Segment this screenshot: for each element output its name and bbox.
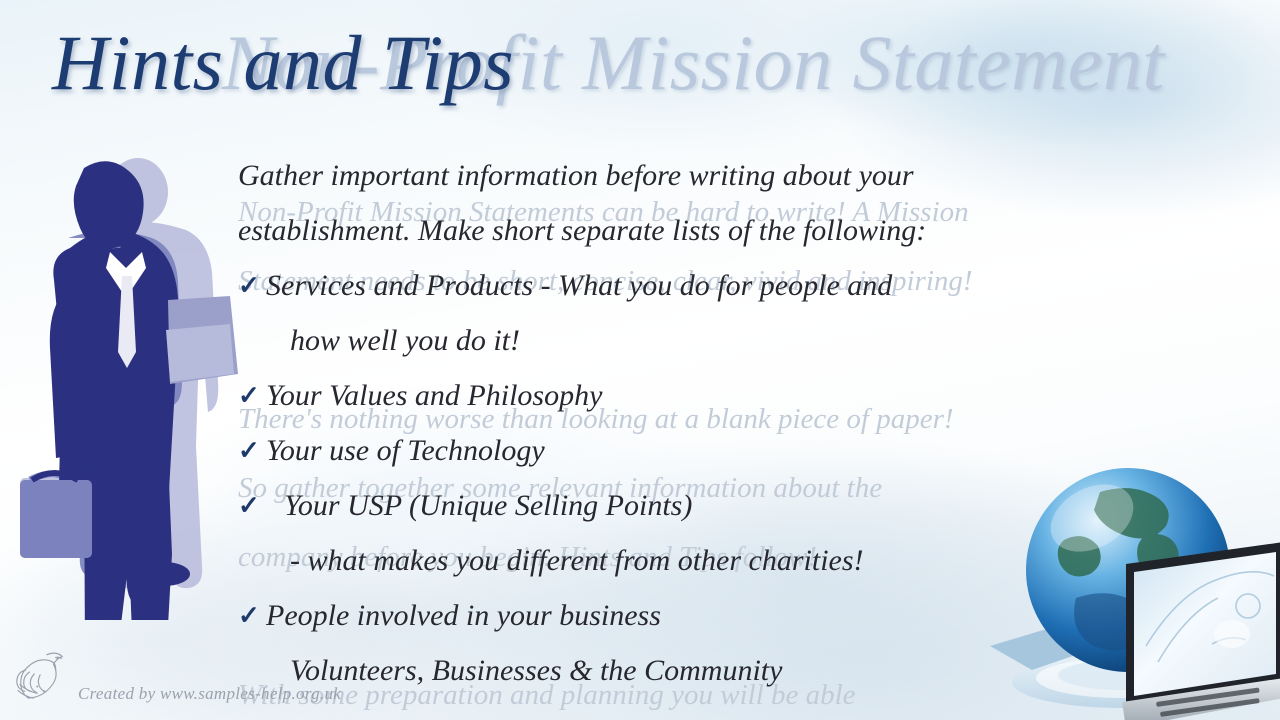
page-title: Hints and Tips: [52, 18, 514, 108]
list-item-continuation: how well you do it!: [238, 313, 1078, 368]
list-item: ✓ Your USP (Unique Selling Points): [238, 478, 1078, 533]
list-item: ✓ People involved in your business: [238, 588, 1078, 643]
footer-credit-text: Created by www.samples-help.org.uk: [78, 684, 341, 706]
list-item-continuation: Volunteers, Businesses & the Community: [238, 643, 1078, 698]
intro-line-2: establishment. Make short separate lists…: [238, 203, 1078, 258]
footer-credit: Created by www.samples-help.org.uk: [14, 645, 341, 706]
list-item-label: People involved in your business: [266, 599, 661, 632]
list-item: ✓ Your use of Technology: [238, 423, 1078, 478]
presentation-slide: Non-Profit Mission Statement Hints and T…: [0, 0, 1280, 720]
list-item-label: Your use of Technology: [266, 434, 545, 467]
slide-title-area: Non-Profit Mission Statement Hints and T…: [0, 0, 1280, 130]
slide-body: Gather important information before writ…: [238, 148, 1078, 698]
list-item-label: Your Values and Philosophy: [266, 379, 602, 412]
list-item-label: Your USP (Unique Selling Points): [284, 489, 692, 522]
list-item: ✓ Your Values and Philosophy: [238, 368, 1078, 423]
globe-laptop-graphic: [980, 430, 1280, 720]
businessman-silhouette-icon: [18, 150, 248, 620]
list-item-continuation: - what makes you different from other ch…: [238, 533, 1078, 588]
list-item: ✓ Services and Products - What you do fo…: [238, 258, 1078, 313]
dove-icon: [14, 645, 72, 706]
intro-line-1: Gather important information before writ…: [238, 148, 1078, 203]
bullet-list: ✓ Services and Products - What you do fo…: [238, 258, 1078, 698]
list-item-label: Services and Products - What you do for …: [266, 269, 892, 302]
